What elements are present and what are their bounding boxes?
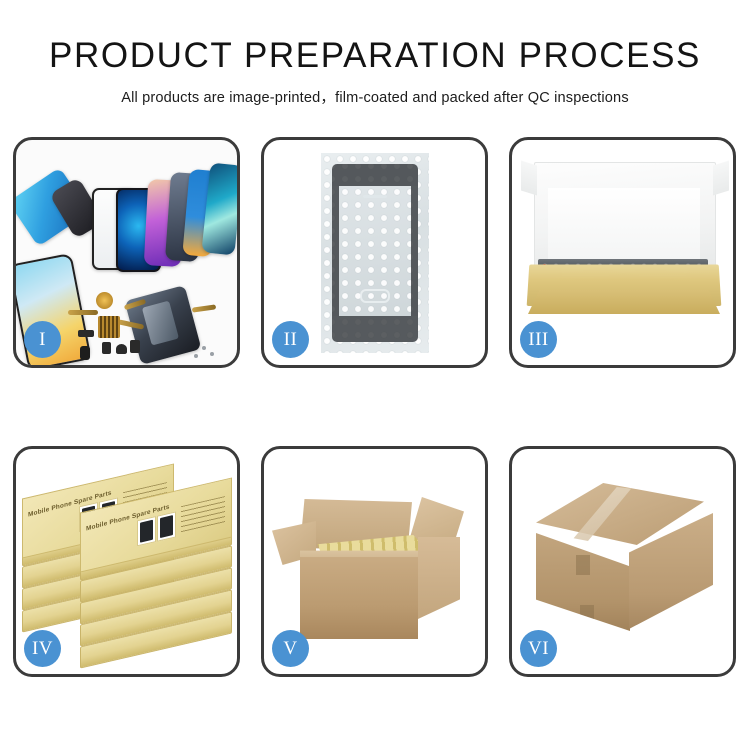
step-badge-2: II [272,321,309,358]
process-step-panel-2: II [261,137,488,368]
process-step-panel-6: VI [509,446,736,677]
part-camera-module [80,346,90,360]
sealed-carton-left-panel [536,533,630,631]
process-step-panel-4: Mobile Phone Spare Parts Mobile Phone Sp… [13,446,240,677]
carton-handle-cut-2 [580,605,594,625]
part-connector-2 [102,342,111,354]
process-step-panel-1: I [13,137,240,368]
carton-handle-cut-1 [576,555,590,575]
lid-flap-right [713,161,729,196]
process-step-panel-3: III [509,137,736,368]
process-step-grid: I II [13,137,737,677]
earpiece-slot [363,195,387,198]
header: PRODUCT PREPARATION PROCESS All products… [0,0,750,107]
lid-flap-left [521,161,537,196]
box-window-front-1 [137,516,156,546]
home-button [360,289,390,303]
carton-side-panel [418,537,460,619]
page-title: PRODUCT PREPARATION PROCESS [0,36,750,75]
process-step-panel-5: V [261,446,488,677]
box-window-front-2 [157,511,176,541]
part-flex-cable-1 [68,310,98,315]
part-battery-cell [130,340,140,353]
part-speaker-ring [96,292,113,309]
infographic-page: PRODUCT PREPARATION PROCESS All products… [0,0,750,750]
step-badge-3: III [520,321,557,358]
part-screw-2 [210,352,214,356]
carton-front-panel [300,557,418,639]
step-badge-6: VI [520,630,557,667]
part-connector-1 [78,330,94,337]
box-spec-lines-front [181,496,225,532]
step-badge-4: IV [24,630,61,667]
step-badge-5: V [272,630,309,667]
part-screw-3 [194,354,198,358]
page-subtitle: All products are image-printed，film-coat… [0,86,750,107]
box-tray-front [528,290,720,314]
step-badge-1: I [24,321,61,358]
foam-insert [548,188,700,260]
part-screw-1 [202,346,206,350]
wrapped-screen [332,164,418,342]
bubble-wrap-sheet [321,153,429,353]
part-tool-tweezers [192,304,216,312]
part-vibrator [116,344,127,354]
part-chip-array [98,316,120,338]
